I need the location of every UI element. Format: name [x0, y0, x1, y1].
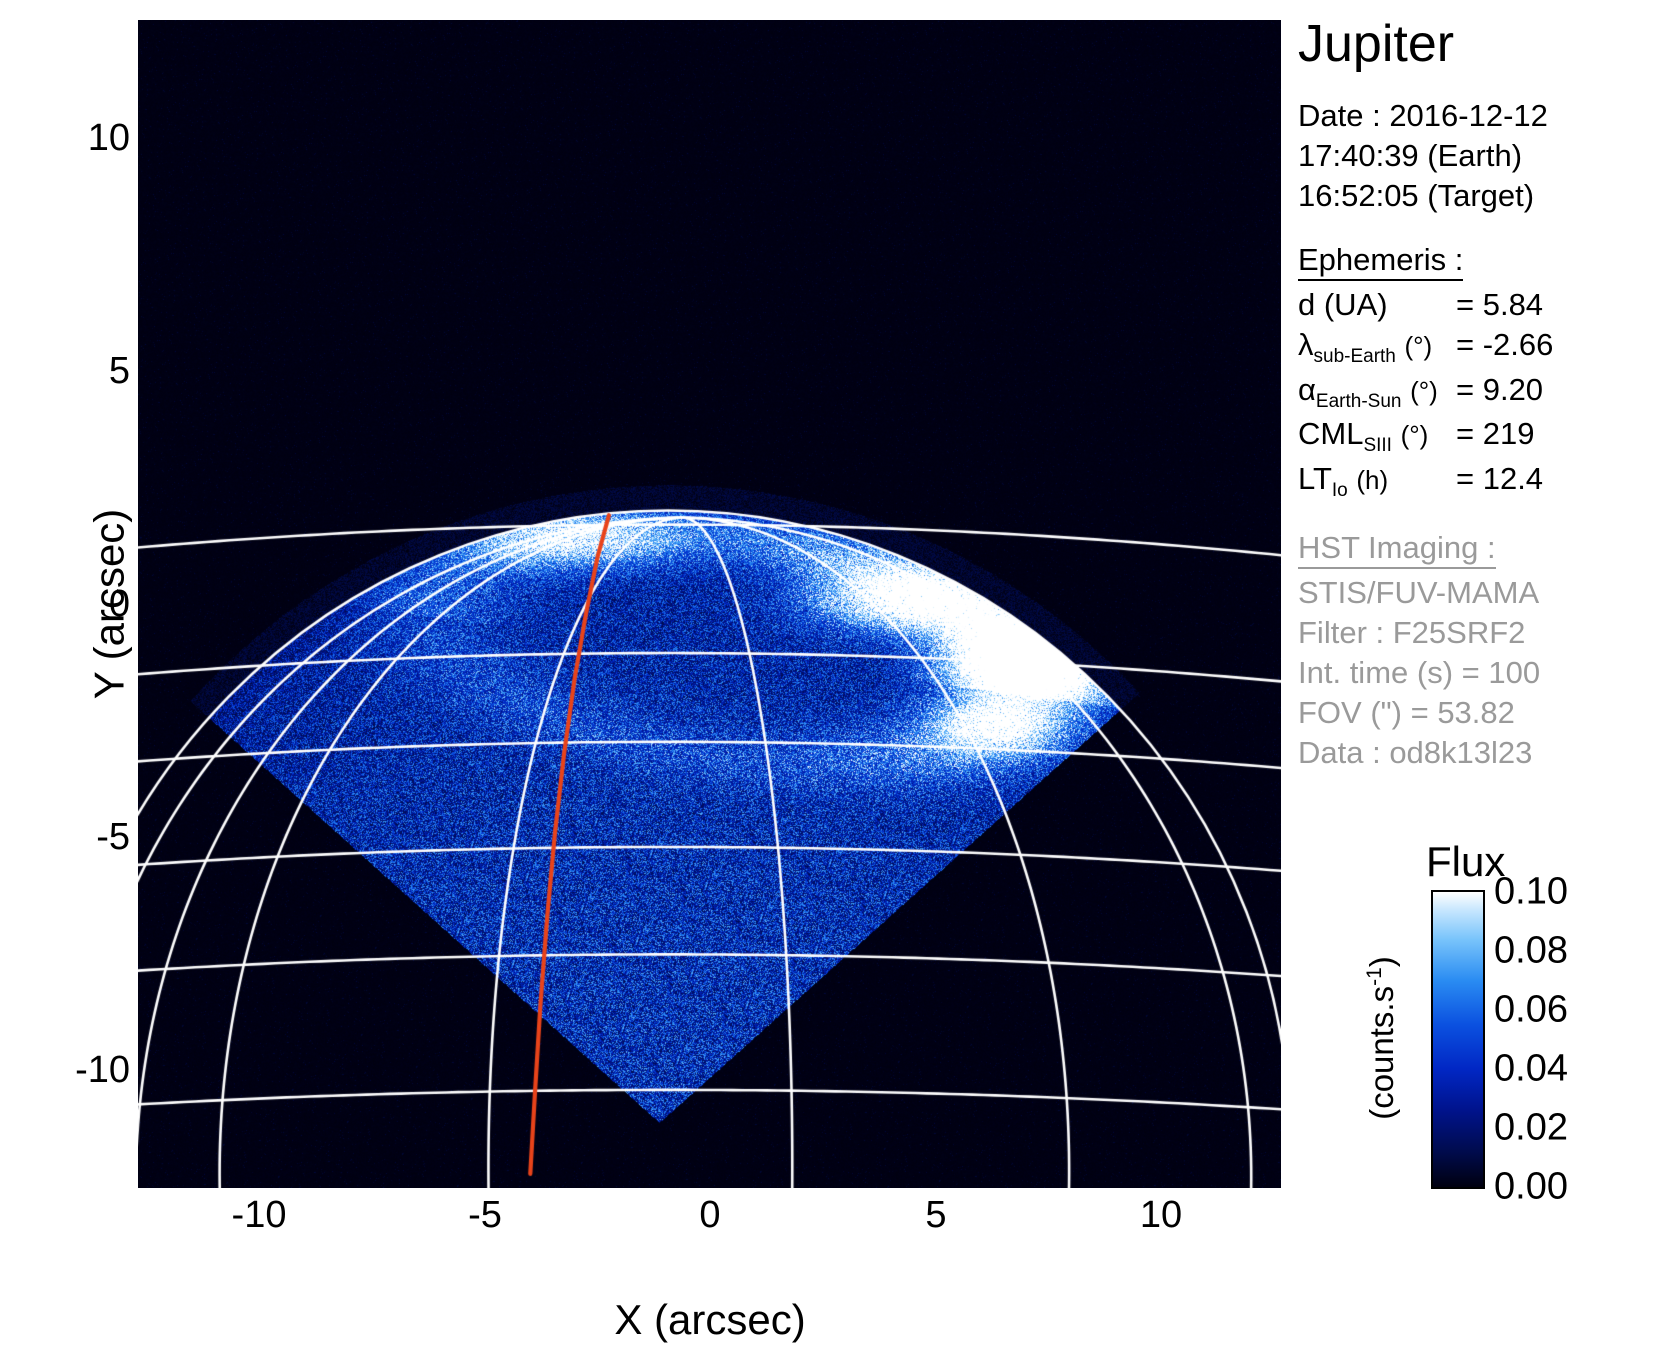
ephemeris-subscript: Io [1332, 480, 1348, 501]
ephemeris-value: = 12.4 [1456, 461, 1543, 496]
ephemeris-unit: (°) [1401, 420, 1429, 450]
ephemeris-label: λsub-Earth (°) [1298, 325, 1456, 370]
hst-field-of-view: FOV (") = 53.82 [1298, 693, 1676, 733]
colorbar-unit-prefix: (counts.s [1363, 986, 1400, 1120]
ephemeris-unit: (°) [1410, 376, 1438, 406]
ephemeris-value: = 9.20 [1456, 372, 1543, 407]
ephemeris-label: d (UA) [1298, 285, 1456, 325]
x-tick-label: -10 [232, 1196, 287, 1234]
ephemeris-unit: (h) [1356, 465, 1388, 495]
y-axis-title: Y (arcsec) [85, 509, 133, 700]
flux-colorbar: Flux 0.10 0.08 0.06 0.04 0.02 0.00 (coun… [1298, 838, 1676, 1218]
ephemeris-value: = 219 [1456, 416, 1534, 451]
ephemeris-symbol: LT [1298, 461, 1332, 496]
y-tick-label: -10 [75, 1051, 130, 1089]
ephemeris-row-cml: CMLSIII (°)= 219 [1298, 414, 1676, 459]
colorbar-tick-label: 0.08 [1494, 930, 1568, 973]
ephemeris-row-distance: d (UA)= 5.84 [1298, 285, 1676, 325]
ephemeris-subscript: sub-Earth [1314, 346, 1396, 367]
ephemeris-row-sub-earth-latitude: λsub-Earth (°)= -2.66 [1298, 325, 1676, 370]
colorbar-unit-label: (counts.s-1) [1363, 956, 1401, 1120]
colorbar-tick-label: 0.00 [1494, 1166, 1568, 1209]
ephemeris-row-phase-angle: αEarth-Sun (°)= 9.20 [1298, 370, 1676, 415]
ephemeris-subscript: Earth-Sun [1316, 391, 1402, 412]
colorbar-tick-label: 0.02 [1494, 1107, 1568, 1150]
x-axis-title: X (arcsec) [614, 1296, 805, 1344]
colorbar-gradient [1431, 890, 1485, 1189]
metadata-panel: Jupiter Date : 2016-12-12 17:40:39 (Eart… [1298, 0, 1676, 773]
x-tick-label: 5 [925, 1196, 946, 1234]
ephemeris-symbol: α [1298, 372, 1316, 407]
aurora-image-plot [138, 20, 1281, 1188]
ephemeris-label: αEarth-Sun (°) [1298, 370, 1456, 415]
ephemeris-value: = -2.66 [1456, 327, 1553, 362]
observation-date: Date : 2016-12-12 [1298, 96, 1676, 136]
ephemeris-label: CMLSIII (°) [1298, 414, 1456, 459]
ephemeris-unit: (°) [1405, 331, 1433, 361]
hst-imaging-heading: HST Imaging : [1298, 530, 1496, 569]
x-tick-label: 10 [1140, 1196, 1182, 1234]
x-tick-label: -5 [468, 1196, 502, 1234]
x-tick-label: 0 [699, 1196, 720, 1234]
jupiter-fuv-image [138, 20, 1281, 1188]
colorbar-tick-label: 0.06 [1494, 989, 1568, 1032]
ephemeris-subscript: SIII [1363, 436, 1392, 457]
hst-dataset-id: Data : od8k13l23 [1298, 733, 1676, 773]
ephemeris-row-io-local-time: LTIo (h)= 12.4 [1298, 459, 1676, 504]
ephemeris-value: = 5.84 [1456, 287, 1543, 322]
observation-time-target: 16:52:05 (Target) [1298, 176, 1676, 216]
hst-integration-time: Int. time (s) = 100 [1298, 653, 1676, 693]
y-tick-label: 5 [109, 352, 130, 390]
ephemeris-label: LTIo (h) [1298, 459, 1456, 504]
y-tick-label: 10 [88, 119, 130, 157]
colorbar-tick-label: 0.10 [1494, 871, 1568, 914]
colorbar-unit-suffix: ) [1363, 956, 1400, 967]
colorbar-unit-exponent: -1 [1363, 967, 1386, 986]
y-tick-label: -5 [96, 818, 130, 856]
observation-time-earth: 17:40:39 (Earth) [1298, 136, 1676, 176]
hst-filter: Filter : F25SRF2 [1298, 613, 1676, 653]
ephemeris-symbol: CML [1298, 416, 1363, 451]
colorbar-tick-label: 0.04 [1494, 1048, 1568, 1091]
page-title: Jupiter [1298, 18, 1676, 70]
hst-instrument: STIS/FUV-MAMA [1298, 573, 1676, 613]
ephemeris-heading: Ephemeris : [1298, 242, 1463, 281]
ephemeris-symbol: λ [1298, 327, 1314, 362]
